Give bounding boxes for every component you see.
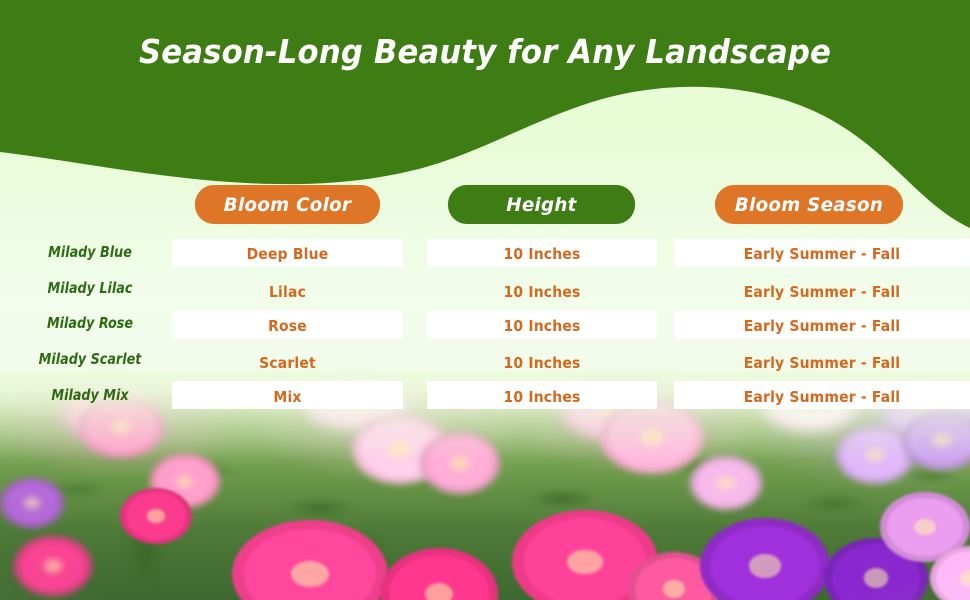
cell-bloom-season: Early Summer - Fall (689, 388, 955, 406)
table-row-label: Milady Rose (22, 314, 158, 332)
table-row-label: Milady Lilac (22, 279, 158, 297)
cell-bloom-season: Early Summer - Fall (689, 245, 955, 263)
table-row-label: Milady Scarlet (22, 350, 158, 368)
cell-bloom-color: Mix (184, 388, 392, 406)
cell-bloom-color: Scarlet (184, 354, 392, 372)
column-header-height: Height (448, 185, 635, 224)
column-header-label: Bloom Color (224, 194, 351, 216)
cell-height: 10 Inches (439, 317, 646, 335)
comparison-table: Bloom Color Height Bloom Season Milady B… (0, 0, 970, 600)
cell-height: 10 Inches (439, 245, 646, 263)
cell-bloom-color: Lilac (184, 283, 392, 301)
column-header-label: Bloom Season (735, 194, 883, 216)
cell-bloom-season: Early Summer - Fall (689, 283, 955, 301)
cell-bloom-season: Early Summer - Fall (689, 354, 955, 372)
column-header-bloom-season: Bloom Season (715, 185, 903, 224)
table-row-label: Milady Mix (22, 386, 158, 404)
cell-height: 10 Inches (439, 388, 646, 406)
column-header-label: Height (506, 194, 576, 216)
poster: Season-Long Beauty for Any Landscape Blo… (0, 0, 970, 600)
cell-bloom-color: Deep Blue (184, 245, 392, 263)
cell-height: 10 Inches (439, 354, 646, 372)
cell-height: 10 Inches (439, 283, 646, 301)
column-header-bloom-color: Bloom Color (195, 185, 380, 224)
cell-bloom-color: Rose (184, 317, 392, 335)
cell-bloom-season: Early Summer - Fall (689, 317, 955, 335)
table-row-label: Milady Blue (22, 243, 158, 261)
